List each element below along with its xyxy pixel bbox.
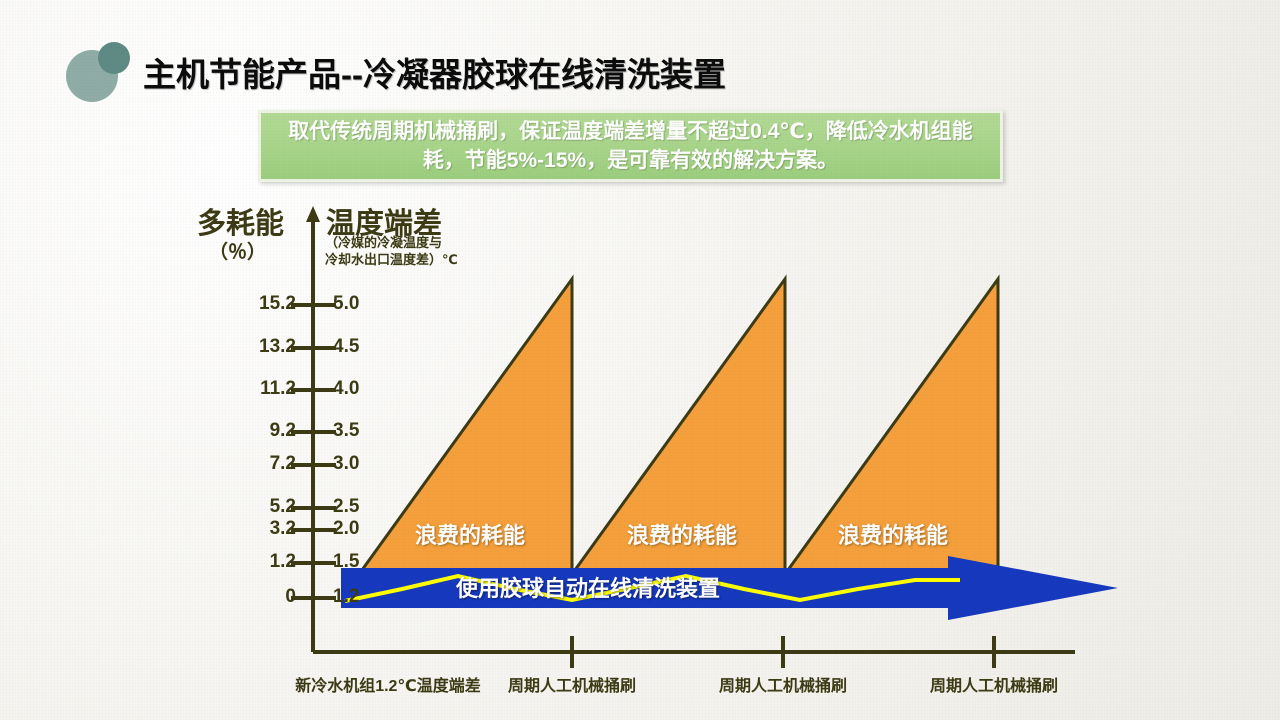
y-axis-unit-left: （％） bbox=[209, 237, 266, 264]
waste-energy-label-1: 浪费的耗能 bbox=[415, 518, 525, 550]
y-tick-right-3: 3.5 bbox=[333, 420, 393, 442]
y-tick-left-2: 11.2 bbox=[228, 378, 296, 400]
y-tick-left-6: 3.2 bbox=[228, 518, 296, 540]
y-tick-right-7: 1.5 bbox=[333, 551, 393, 573]
y-tick-right-0: 5.0 bbox=[333, 293, 393, 315]
y-axis-subtitle-right: （冷媒的冷凝温度与冷却水出口温度差）℃ bbox=[325, 234, 458, 268]
page-title: 主机节能产品--冷凝器胶球在线清洗装置 bbox=[143, 48, 726, 96]
summary-banner: 取代传统周期机械捅刷，保证温度端差增量不超过0.4℃，降低冷水机组能耗，节能5%… bbox=[258, 110, 1003, 182]
logo-circle-small bbox=[98, 42, 130, 74]
logo-circles-icon bbox=[64, 38, 142, 104]
slide-canvas: 主机节能产品--冷凝器胶球在线清洗装置 取代传统周期机械捅刷，保证温度端差增量不… bbox=[0, 0, 1280, 720]
waste-energy-label-3: 浪费的耗能 bbox=[838, 518, 948, 550]
y-tick-left-4: 7.2 bbox=[228, 453, 296, 475]
y-tick-right-8: 1.2 bbox=[333, 586, 393, 608]
y-tick-left-8: 0 bbox=[228, 586, 296, 608]
summary-banner-text: 取代传统周期机械捅刷，保证温度端差增量不超过0.4℃，降低冷水机组能耗，节能5%… bbox=[261, 117, 1000, 175]
cleaning-device-label: 使用胶球自动在线清洗装置 bbox=[456, 571, 720, 603]
y-tick-left-7: 1.2 bbox=[228, 551, 296, 573]
y-tick-right-2: 4.0 bbox=[333, 378, 393, 400]
waste-energy-label-2: 浪费的耗能 bbox=[627, 518, 737, 550]
y-tick-left-3: 9.2 bbox=[228, 420, 296, 442]
y-tick-left-5: 5.2 bbox=[228, 496, 296, 518]
y-tick-right-1: 4.5 bbox=[333, 336, 393, 358]
y-tick-right-4: 3.0 bbox=[333, 453, 393, 475]
y-axis-title-left: 多耗能 bbox=[197, 200, 284, 242]
y-tick-right-6: 2.0 bbox=[333, 518, 393, 540]
y-tick-right-5: 2.5 bbox=[333, 496, 393, 518]
chart-graphics bbox=[0, 0, 1280, 720]
x-category-label-3: 周期人工机械捅刷 bbox=[894, 672, 1094, 696]
x-category-label-2: 周期人工机械捅刷 bbox=[683, 672, 883, 696]
y-tick-left-1: 13.2 bbox=[228, 336, 296, 358]
y-tick-left-0: 15.2 bbox=[228, 293, 296, 315]
x-category-label-1: 周期人工机械捅刷 bbox=[472, 672, 672, 696]
